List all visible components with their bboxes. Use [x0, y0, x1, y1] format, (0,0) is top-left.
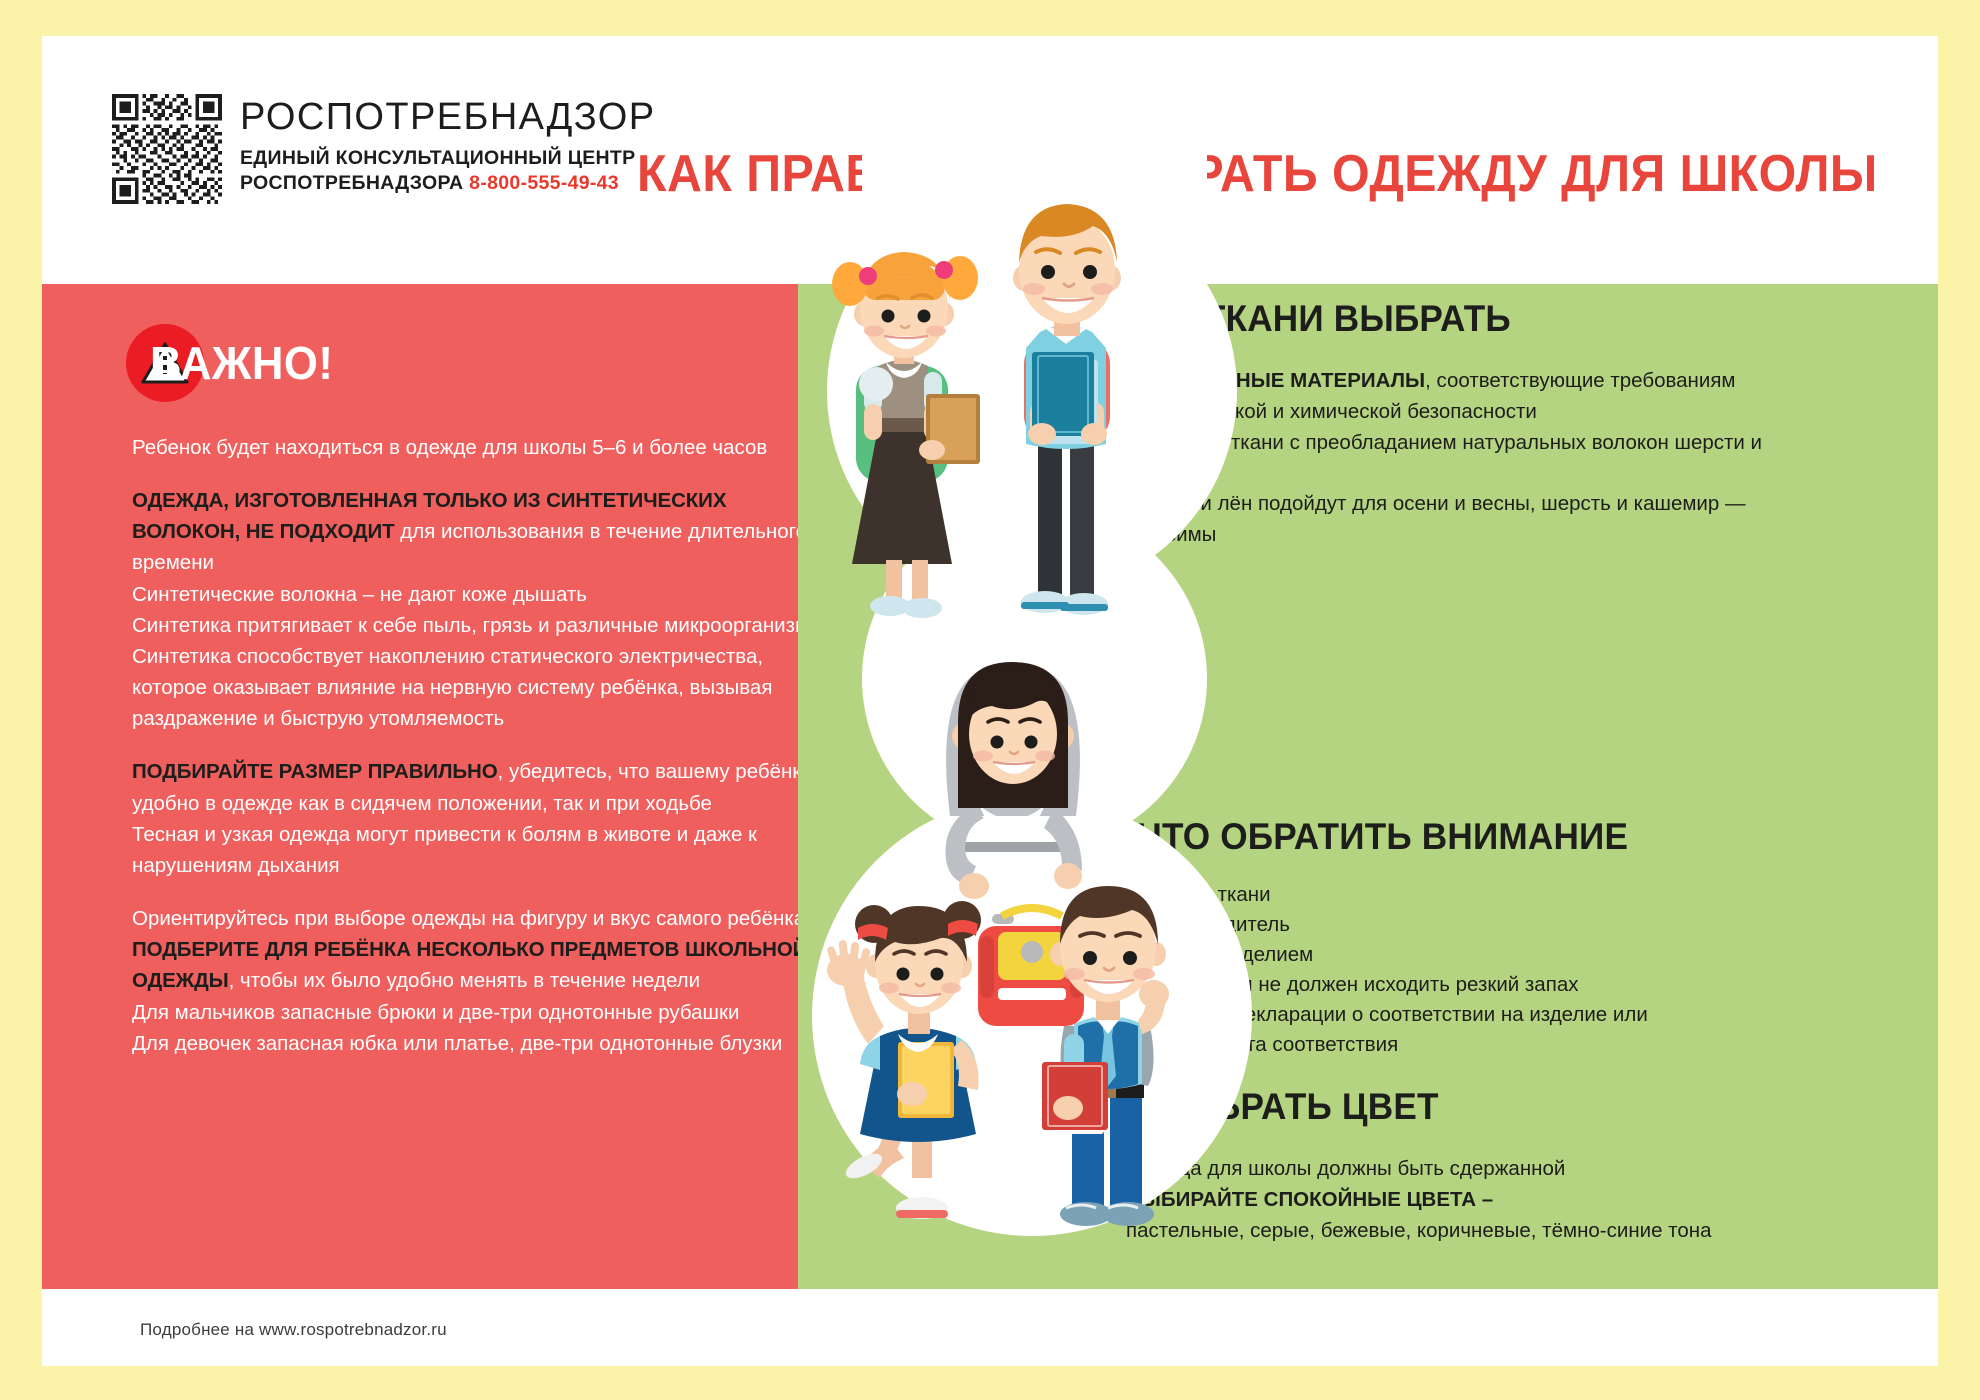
color-body: Одежда для школы должны быть сдержанной … — [1126, 1154, 1766, 1246]
important-boys-line: Для мальчиков запасные брюки и две-три о… — [132, 997, 832, 1028]
hotline-phone: 8-800-555-49-43 — [469, 172, 619, 194]
important-block2-bold: ПОДБИРАЙТЕ РАЗМЕР ПРАВИЛЬНО — [132, 760, 498, 783]
color-line1: Одежда для школы должны быть сдержанной — [1126, 1154, 1766, 1185]
list-item: Производитель — [1126, 910, 1766, 940]
fabrics-lead-bold: НАТУРАЛЬНЫЕ МАТЕРИАЛЫ — [1126, 369, 1425, 392]
attention-header: НА ЧТО ОБРАТИТЬ ВНИМАНИЕ — [1050, 816, 1938, 858]
attention-heading: НА ЧТО ОБРАТИТЬ ВНИМАНИЕ — [1076, 816, 1628, 858]
important-syn-line2: Синтетика притягивает к себе пыль, грязь… — [132, 610, 832, 641]
attention-section: НА ЧТО ОБРАТИТЬ ВНИМАНИЕ Состав ткани Пр… — [1050, 816, 1938, 1060]
important-block2: ПОДБИРАЙТЕ РАЗМЕР ПРАВИЛЬНО, убедитесь, … — [132, 756, 832, 818]
fabrics-blend-line: Смесовые ткани с преобладанием натуральн… — [1126, 428, 1766, 490]
important-girls-line: Для девочек запасная юбка или платье, дв… — [132, 1028, 832, 1059]
fabrics-body: НАТУРАЛЬНЫЕ МАТЕРИАЛЫ, соответствующие т… — [1126, 366, 1766, 551]
qr-code-icon — [112, 94, 222, 204]
brand-text: РОСПОТРЕБНАДЗОР ЕДИНЫЙ КОНСУЛЬТАЦИОННЫЙ … — [240, 94, 655, 196]
fabrics-lead: НАТУРАЛЬНЫЕ МАТЕРИАЛЫ, соответствующие т… — [1126, 366, 1766, 428]
poster: РОСПОТРЕБНАДЗОР ЕДИНЫЙ КОНСУЛЬТАЦИОННЫЙ … — [42, 36, 1938, 1366]
important-tight-line: Тесная и узкая одежда могут привести к б… — [132, 819, 832, 881]
fabrics-heading: КАКИЕ ТКАНИ ВЫБРАТЬ — [1076, 298, 1511, 340]
color-bold: ВЫБИРАЙТЕ СПОКОЙНЫЕ ЦВЕТА – — [1126, 1185, 1766, 1216]
footer-link-text: Подробнее на www.rospotrebnadzor.ru — [140, 1320, 447, 1340]
org-name: РОСПОТРЕБНАДЗОР — [240, 98, 655, 136]
brand-block: РОСПОТРЕБНАДЗОР ЕДИНЫЙ КОНСУЛЬТАЦИОННЫЙ … — [112, 94, 655, 204]
header: РОСПОТРЕБНАДЗОР ЕДИНЫЙ КОНСУЛЬТАЦИОННЫЙ … — [42, 36, 1938, 284]
important-intro: Ребенок будет находиться в одежде для шк… — [132, 432, 832, 463]
org-subtitle: ЕДИНЫЙ КОНСУЛЬТАЦИОННЫЙ ЦЕНТР РОСПОТРЕБН… — [240, 146, 655, 196]
important-block3-rest: , чтобы их было удобно менять в течение … — [229, 969, 701, 992]
important-syn-line1: Синтетические волокна – не дают коже дыш… — [132, 579, 832, 610]
footer: Подробнее на www.rospotrebnadzor.ru — [42, 1289, 1938, 1366]
list-item: От изделия не должен исходить резкий зап… — [1126, 970, 1766, 1000]
important-syn-line3: Синтетика способствует накоплению статич… — [132, 641, 832, 734]
fabrics-season-line: Хлопок и лён подойдут для осени и весны,… — [1126, 489, 1766, 551]
color-heading: КАК ВЫБРАТЬ ЦВЕТ — [1076, 1086, 1439, 1128]
list-item: Уход за изделием — [1126, 940, 1766, 970]
fabrics-section: ? КАКИЕ ТКАНИ ВЫБРАТЬ НАТУРАЛЬНЫЕ МАТЕРИ… — [1050, 298, 1938, 551]
page-title: КАК ПРАВИЛЬНО ВЫБРАТЬ ОДЕЖДУ ДЛЯ ШКОЛЫ — [637, 144, 1809, 204]
color-line2: пастельные, серые, бежевые, коричневые, … — [1126, 1216, 1766, 1247]
important-block3: ПОДБЕРИТЕ ДЛЯ РЕБЁНКА НЕСКОЛЬКО ПРЕДМЕТО… — [132, 934, 832, 996]
color-section: КАК ВЫБРАТЬ ЦВЕТ Одежда для школы должны… — [1050, 1086, 1938, 1246]
important-block1: ОДЕЖДА, ИЗГОТОВЛЕННАЯ ТОЛЬКО ИЗ СИНТЕТИЧ… — [132, 485, 832, 578]
fabrics-header: ? КАКИЕ ТКАНИ ВЫБРАТЬ — [1050, 298, 1938, 340]
important-heading: ВАЖНО! — [150, 336, 333, 390]
list-item: Наличие декларации о соответствии на изд… — [1126, 1000, 1766, 1060]
attention-list: Состав ткани Производитель Уход за издел… — [1126, 880, 1766, 1060]
important-header: ВАЖНО! — [126, 336, 343, 390]
list-item: Состав ткани — [1126, 880, 1766, 910]
important-figure-line: Ориентируйтесь при выборе одежды на фигу… — [132, 903, 832, 934]
important-body: Ребенок будет находиться в одежде для шк… — [132, 432, 832, 1059]
color-bold-text: ВЫБИРАЙТЕ СПОКОЙНЫЕ ЦВЕТА – — [1126, 1188, 1493, 1211]
org-sub-line1: ЕДИНЫЙ КОНСУЛЬТАЦИОННЫЙ ЦЕНТР — [240, 147, 635, 169]
color-header: КАК ВЫБРАТЬ ЦВЕТ — [1050, 1086, 1938, 1128]
org-sub-line2: РОСПОТРЕБНАДЗОРА — [240, 172, 463, 194]
